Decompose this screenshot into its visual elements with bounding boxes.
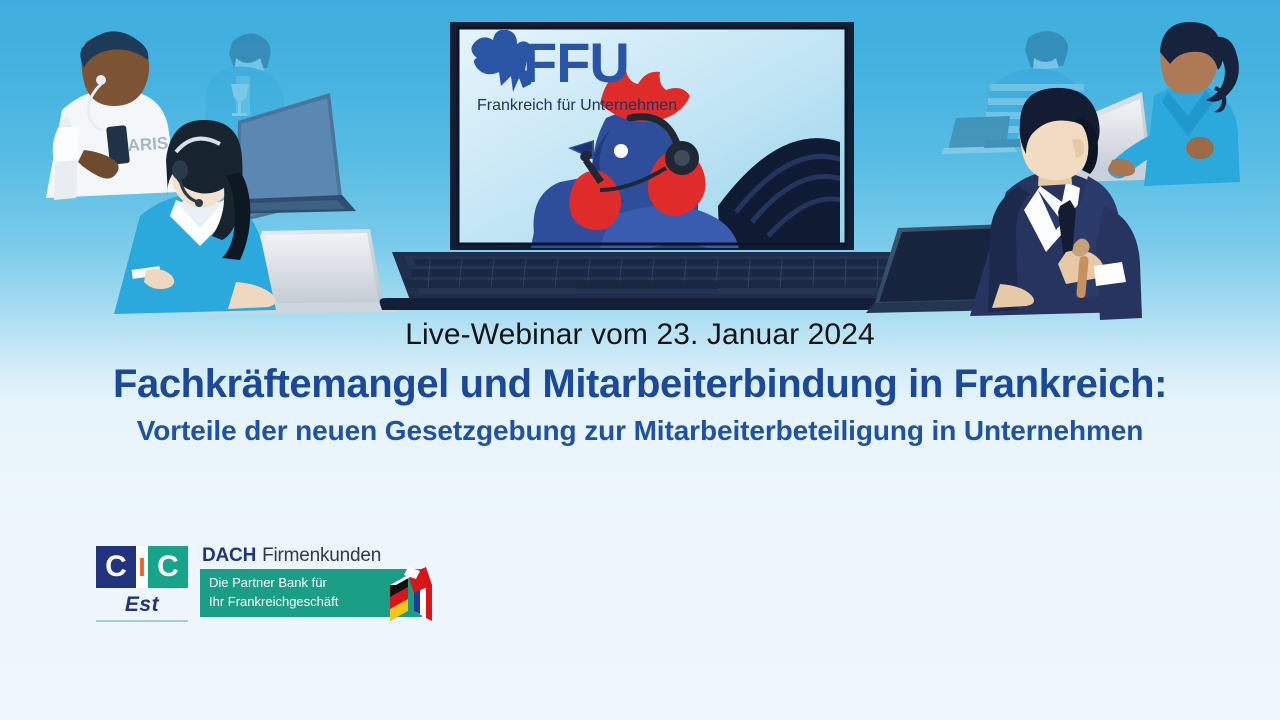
logo-bar: C I C Est DACH Firmenkunden Die Partner … [96, 546, 422, 622]
page-subtitle: Vorteile der neuen Gesetzgebung zur Mita… [0, 416, 1280, 447]
dach-wordmark: DACH Firmenkunden [200, 546, 422, 565]
webinar-title-slide: PARIS [0, 0, 1280, 720]
cic-region-label: Est [96, 593, 188, 617]
dach-firmenkunden-logo: DACH Firmenkunden Die Partner Bank für I… [200, 546, 422, 617]
cic-underline [96, 620, 188, 622]
svg-text:FFU: FFU [523, 31, 629, 94]
title-text-block: Live-Webinar vom 23. Januar 2024 Fachkrä… [0, 318, 1280, 447]
dach-claim-line-2: Ihr Frankreichgeschäft [209, 593, 338, 612]
svg-text:Frankreich für Unternehmen: Frankreich für Unternehmen [477, 97, 677, 114]
dach-claim-text: Die Partner Bank für Ihr Frankreichgesch… [200, 569, 344, 617]
cic-letter-left: C [96, 546, 136, 588]
laptop-with-rooster-wearing-headset: FFU Frankreich für Unternehmen [380, 22, 915, 324]
dach-claim-line-1: Die Partner Bank für [209, 574, 338, 593]
german-french-cube-icon [384, 565, 440, 623]
cic-letter-right: C [148, 546, 188, 588]
dach-word-bold: DACH [202, 546, 256, 565]
dach-claim-band: Die Partner Bank für Ihr Frankreichgesch… [200, 569, 422, 617]
dach-word-rest: Firmenkunden [262, 546, 381, 565]
webinar-date-line: Live-Webinar vom 23. Januar 2024 [0, 318, 1280, 351]
cic-letter-middle: I [136, 546, 148, 588]
cic-wordmark: C I C [96, 546, 188, 588]
page-title: Fachkräftemangel und Mitarbeiterbindung … [0, 363, 1280, 405]
cic-est-logo: C I C Est [96, 546, 188, 622]
